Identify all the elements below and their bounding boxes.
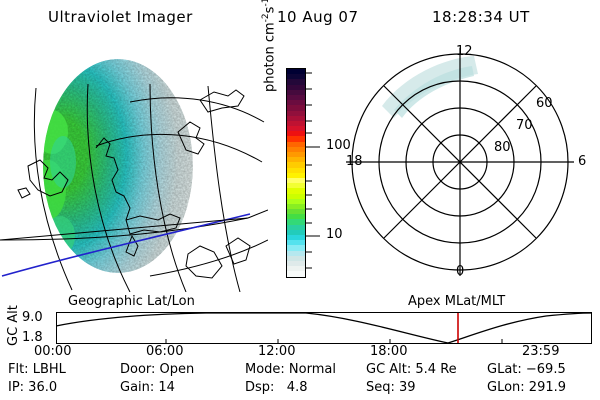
mlt-label-0: 0 (456, 264, 464, 279)
status-seq: Seq: 39 (366, 380, 416, 395)
colorbar-unit-exp2: -1 (261, 0, 271, 7)
colorbar-gradient (286, 68, 306, 278)
geographic-limb-image (0, 40, 268, 292)
geographic-image-panel (0, 40, 268, 292)
colorbar-unit-exp1: -2 (261, 13, 271, 22)
mlt-label-12: 12 (456, 44, 473, 59)
status-gc-alt: GC Alt: 5.4 Re (366, 362, 457, 377)
orbit-y-axis-label: GC Alt (6, 305, 21, 346)
status-glon: GLon: 291.9 (487, 380, 566, 395)
orbit-altitude-plot: Geographic Lat/Lon Apex MLat/MLT GC Alt … (0, 292, 600, 358)
ultraviolet-imager-display: Ultraviolet Imager 10 Aug 07 18:28:34 UT (0, 0, 600, 400)
colorbar-unit-main: photon cm (262, 22, 277, 92)
status-dsp: Dsp: 4.8 (245, 380, 308, 395)
status-flt: Flt: LBHL (8, 362, 66, 377)
colorbar-segment-39 (287, 271, 305, 276)
observation-date: 10 Aug 07 (277, 8, 359, 26)
orbit-x-tick-1: 06:00 (146, 344, 183, 359)
status-glat: GLat: −69.5 (487, 362, 566, 377)
mlt-spokes (346, 48, 574, 276)
status-bar: Flt: LBHL IP: 36.0 Door: Open Gain: 14 M… (0, 362, 600, 400)
geographic-panel-subtitle: Geographic Lat/Lon (68, 294, 195, 309)
status-door: Door: Open (120, 362, 194, 377)
observation-time: 18:28:34 UT (432, 8, 530, 26)
orbit-x-tick-2: 12:00 (258, 344, 295, 359)
status-mode: Mode: Normal (245, 362, 336, 377)
orbit-x-tick-0: 00:00 (34, 344, 71, 359)
status-ip: IP: 36.0 (8, 380, 57, 395)
mlat-label-60: 60 (536, 96, 553, 111)
apex-polar-plot (332, 40, 600, 292)
colorbar (286, 68, 306, 278)
colorbar-axis-title: photon cm-2s-1 (261, 0, 277, 92)
status-gain: Gain: 14 (120, 380, 175, 395)
mlt-label-6: 6 (578, 154, 586, 169)
orbit-y-tick-high: 9.0 (22, 310, 43, 325)
orbit-x-tick-3: 18:00 (370, 344, 407, 359)
orbit-y-tick-low: 1.8 (22, 330, 43, 345)
apex-polar-panel: 12 6 0 18 60 70 80 (332, 40, 600, 292)
mlat-label-80: 80 (494, 140, 511, 155)
colorbar-unit-mid: s (262, 7, 277, 14)
mlt-label-18: 18 (346, 154, 363, 169)
orbit-x-tick-4: 23:59 (522, 344, 559, 359)
mlat-label-70: 70 (516, 118, 533, 133)
apex-panel-subtitle: Apex MLat/MLT (408, 294, 505, 309)
orbit-altitude-trace (56, 312, 592, 344)
page-title: Ultraviolet Imager (48, 8, 193, 26)
